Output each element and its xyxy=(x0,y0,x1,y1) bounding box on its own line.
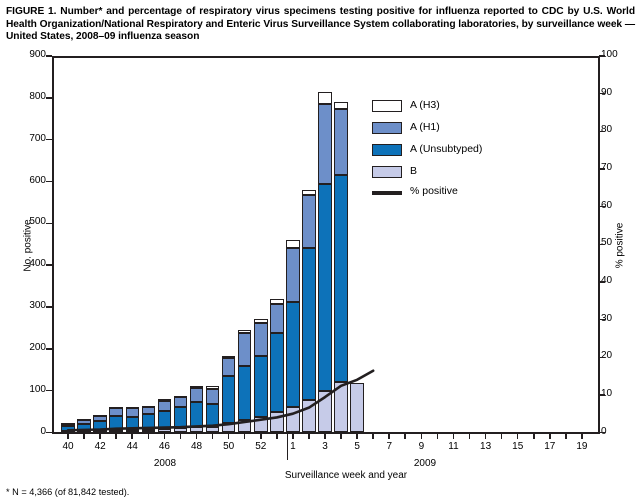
bar-segment xyxy=(238,330,251,333)
bar-segment xyxy=(109,407,122,409)
y-axis-left-tick-label: 200 xyxy=(12,342,46,353)
y-axis-left-tick-label: 500 xyxy=(12,216,46,227)
bar-segment xyxy=(222,356,235,359)
x-axis-tick xyxy=(549,433,551,439)
bar-segment xyxy=(302,248,315,399)
x-axis-tick xyxy=(276,433,278,439)
y-axis-right-tick xyxy=(599,131,605,132)
bar-segment xyxy=(286,248,299,302)
x-axis-tick xyxy=(340,433,342,439)
bar-segment xyxy=(254,323,267,356)
x-axis-tick-label: 15 xyxy=(506,441,530,452)
year-label-2008: 2008 xyxy=(130,458,200,469)
bar-segment xyxy=(93,421,106,430)
x-axis-tick xyxy=(485,433,487,439)
x-axis-tick-label: 13 xyxy=(474,441,498,452)
x-axis-title: Surveillance week and year xyxy=(216,470,476,481)
bar-segment xyxy=(302,190,315,195)
bar-segment xyxy=(206,389,219,404)
bar-segment xyxy=(142,430,155,433)
bar-segment xyxy=(238,366,251,420)
bar-segment xyxy=(318,104,331,183)
bar-segment xyxy=(142,414,155,430)
y-axis-left-tick xyxy=(46,306,52,307)
x-axis-tick xyxy=(356,433,358,439)
y-axis-right-tick-label: 90 xyxy=(601,87,635,98)
bar-segment xyxy=(109,430,122,433)
bar-segment xyxy=(238,420,251,433)
x-axis-tick-label: 3 xyxy=(313,441,337,452)
x-axis-tick xyxy=(501,433,503,439)
bar-segment xyxy=(254,356,267,417)
bar-segment xyxy=(350,383,363,432)
y-axis-right-tick-label: 30 xyxy=(601,313,635,324)
x-axis-tick-label: 7 xyxy=(377,441,401,452)
legend-label-percent: % positive xyxy=(410,185,458,197)
x-axis-tick-label: 5 xyxy=(345,441,369,452)
year-label-2009: 2009 xyxy=(390,458,460,469)
plot-top-rule xyxy=(52,56,600,58)
y-axis-left-tick-label: 100 xyxy=(12,384,46,395)
y-axis-left-tick xyxy=(46,223,52,224)
bar-segment xyxy=(142,406,155,408)
bar-segment xyxy=(206,427,219,433)
y-axis-right-tick xyxy=(599,206,605,207)
x-axis-tick xyxy=(67,433,69,439)
figure-footnote: * N = 4,366 (of 81,842 tested). xyxy=(6,487,129,497)
bar-segment xyxy=(126,417,139,430)
x-axis-tick xyxy=(453,433,455,439)
y-axis-left-tick-label: 900 xyxy=(12,49,46,60)
bar-segment xyxy=(270,333,283,412)
bar-segment xyxy=(158,411,171,429)
y-axis-left-tick-label: 800 xyxy=(12,91,46,102)
x-axis-tick xyxy=(565,433,567,439)
x-axis-tick-label: 40 xyxy=(56,441,80,452)
bar-segment xyxy=(222,376,235,423)
bar-segment xyxy=(318,92,331,105)
x-axis-tick xyxy=(324,433,326,439)
bar-segment xyxy=(158,401,171,411)
x-axis-tick xyxy=(469,433,471,439)
y-axis-right-tick-label: 80 xyxy=(601,124,635,135)
y-axis-left-tick xyxy=(46,390,52,391)
y-axis-right-tick xyxy=(599,168,605,169)
y-axis-right-tick-label: 20 xyxy=(601,350,635,361)
bar-segment xyxy=(222,358,235,376)
bar-segment xyxy=(174,428,187,432)
bar-segment xyxy=(190,402,203,427)
bar-segment xyxy=(302,195,315,249)
bar-segment xyxy=(254,319,267,323)
bar-segment xyxy=(190,386,203,389)
x-axis-tick-label: 1 xyxy=(281,441,305,452)
x-axis-tick xyxy=(437,433,439,439)
y-axis-left-tick-label: 400 xyxy=(12,258,46,269)
x-axis-tick xyxy=(581,433,583,439)
legend-swatch-a-h1 xyxy=(372,122,402,134)
x-axis-tick-label: 44 xyxy=(120,441,144,452)
bar-segment xyxy=(158,399,171,401)
x-axis-tick xyxy=(372,433,374,439)
bar-segment xyxy=(334,109,347,175)
x-axis-tick-label: 50 xyxy=(217,441,241,452)
y-axis-right-tick xyxy=(599,55,605,56)
x-axis-tick xyxy=(308,433,310,439)
legend-label-a-h1: A (H1) xyxy=(410,121,440,133)
legend-swatch-b xyxy=(372,166,402,178)
bar-segment xyxy=(61,423,74,425)
bar-segment xyxy=(109,416,122,430)
y-axis-left-tick xyxy=(46,348,52,349)
bar-segment xyxy=(206,386,219,389)
x-axis-tick-label: 48 xyxy=(185,441,209,452)
x-axis-tick xyxy=(196,433,198,439)
y-axis-right-tick-label: 10 xyxy=(601,388,635,399)
y-axis-left-tick-label: 300 xyxy=(12,300,46,311)
bar-segment xyxy=(270,304,283,333)
y-axis-right-tick-label: 100 xyxy=(601,49,635,60)
bar-segment xyxy=(77,419,90,421)
bar-segment xyxy=(174,397,187,406)
y-axis-left-tick xyxy=(46,181,52,182)
x-axis-tick xyxy=(517,433,519,439)
bar-segment xyxy=(77,424,90,431)
bar-segment xyxy=(109,408,122,416)
bar-segment xyxy=(318,391,331,433)
y-axis-right-tick-label: 60 xyxy=(601,200,635,211)
y-axis-right-tick xyxy=(599,432,605,433)
y-axis-right-tick xyxy=(599,281,605,282)
bar-segment xyxy=(286,240,299,248)
bar-segment xyxy=(93,430,106,432)
x-axis-tick xyxy=(404,433,406,439)
bar-segment xyxy=(222,423,235,432)
y-axis-right-tick-label: 0 xyxy=(601,426,635,437)
bar-segment xyxy=(254,417,267,432)
x-axis-tick xyxy=(212,433,214,439)
x-axis-tick xyxy=(180,433,182,439)
bar-segment xyxy=(318,184,331,391)
y-axis-left-tick xyxy=(46,139,52,140)
legend-label-a-h3: A (H3) xyxy=(410,99,440,111)
x-axis-tick-label: 19 xyxy=(570,441,594,452)
bar-segment xyxy=(61,426,74,431)
chart-canvas: No. positive % positive 0100200300400500… xyxy=(0,0,641,504)
y-axis-right-tick xyxy=(599,319,605,320)
bar-segment xyxy=(126,430,139,433)
bar-segment xyxy=(61,431,74,433)
bar-segment xyxy=(174,396,187,398)
bar-segment xyxy=(286,407,299,433)
x-axis-tick-label: 42 xyxy=(88,441,112,452)
legend-swatch-a-h3 xyxy=(372,100,402,112)
x-axis-tick xyxy=(533,433,535,439)
legend-label-a-unsubtyped: A (Unsubtyped) xyxy=(410,143,482,155)
bar-segment xyxy=(334,175,347,382)
bar-segment xyxy=(286,302,299,407)
y-axis-left-tick-label: 700 xyxy=(12,133,46,144)
x-axis-tick xyxy=(421,433,423,439)
bar-segment xyxy=(93,415,106,417)
bar-segment xyxy=(270,299,283,304)
y-axis-right-tick-label: 40 xyxy=(601,275,635,286)
legend-line-percent xyxy=(372,191,402,195)
y-axis-left-tick xyxy=(46,264,52,265)
y-axis-right-tick xyxy=(599,394,605,395)
y-axis-left-tick xyxy=(46,97,52,98)
x-axis-tick-label: 17 xyxy=(538,441,562,452)
x-axis-tick xyxy=(131,433,133,439)
bar-segment xyxy=(302,400,315,433)
x-axis-tick xyxy=(228,433,230,439)
x-axis-tick xyxy=(115,433,117,439)
bar-segment xyxy=(334,382,347,432)
bar-segment xyxy=(270,412,283,432)
x-axis-tick xyxy=(148,433,150,439)
y-axis-right-tick xyxy=(599,93,605,94)
x-axis-tick xyxy=(244,433,246,439)
bar-segment xyxy=(174,407,187,429)
y-axis-left-tick xyxy=(46,55,52,56)
x-axis-tick xyxy=(164,433,166,439)
legend-swatch-a-unsubtyped xyxy=(372,144,402,156)
y-axis-left-tick-label: 600 xyxy=(12,175,46,186)
y-axis-right-tick-label: 70 xyxy=(601,162,635,173)
x-axis-tick xyxy=(260,433,262,439)
x-axis-tick xyxy=(388,433,390,439)
bar-segment xyxy=(126,407,139,409)
bar-segment xyxy=(126,408,139,417)
bar-segment xyxy=(77,431,90,433)
x-axis-tick xyxy=(292,433,294,439)
bar-segment xyxy=(334,102,347,109)
y-axis-left-tick xyxy=(46,432,52,433)
bar-segment xyxy=(206,404,219,427)
x-axis-tick xyxy=(83,433,85,439)
legend-label-b: B xyxy=(410,165,417,177)
bar-segment xyxy=(238,333,251,366)
x-axis-tick-label: 52 xyxy=(249,441,273,452)
x-axis-tick xyxy=(99,433,101,439)
y-axis-right-tick xyxy=(599,357,605,358)
bar-segment xyxy=(190,427,203,432)
y-axis-left-line xyxy=(52,56,54,433)
y-axis-left-tick-label: 0 xyxy=(12,426,46,437)
bar-segment xyxy=(158,429,171,432)
bar-segment xyxy=(190,388,203,402)
y-axis-right-tick xyxy=(599,244,605,245)
y-axis-right-tick-label: 50 xyxy=(601,237,635,248)
x-axis-tick-label: 46 xyxy=(152,441,176,452)
x-axis-tick-label: 9 xyxy=(409,441,433,452)
x-axis-tick-label: 11 xyxy=(441,441,465,452)
